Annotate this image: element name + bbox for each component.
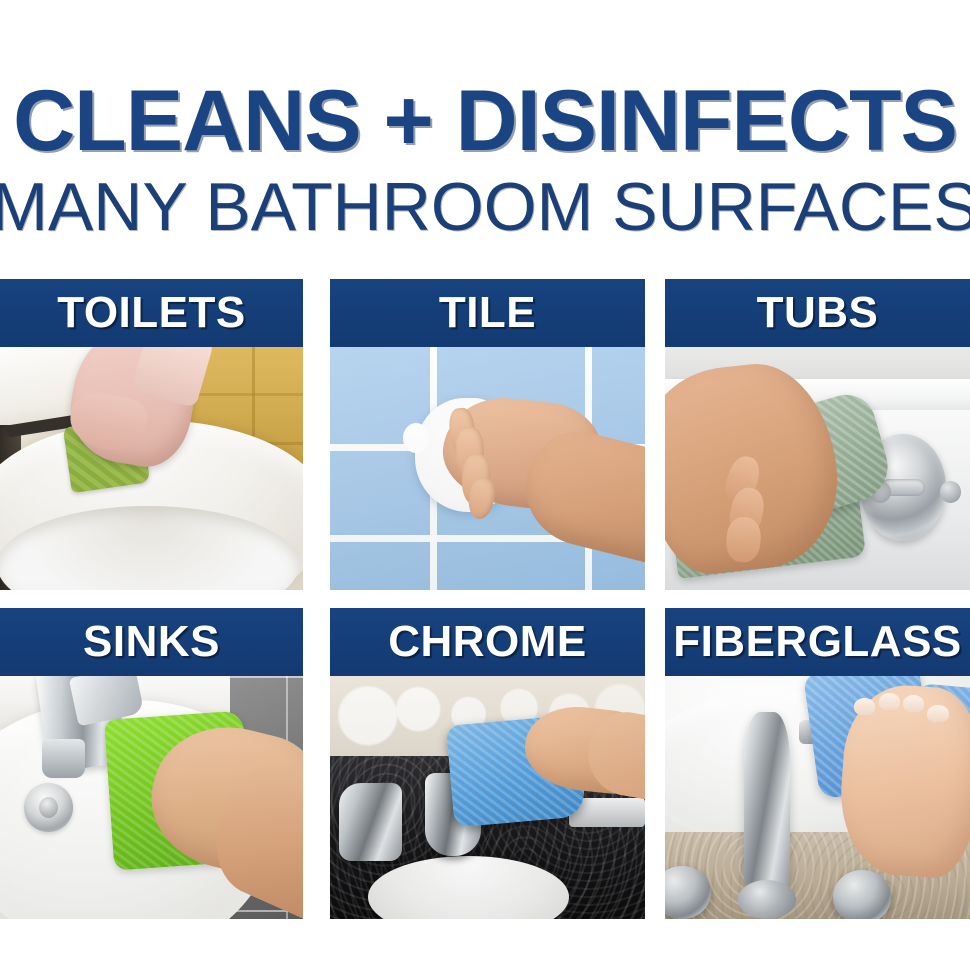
surface-tile-grid: TOILETS TILE: [0, 279, 970, 919]
surface-tile-chrome[interactable]: CHROME: [330, 608, 645, 919]
fingernail: [879, 693, 900, 710]
tile-header-chrome: CHROME: [330, 608, 645, 676]
fingernail: [927, 705, 948, 722]
page-headline: CLEANS + DISINFECTS: [13, 76, 957, 166]
surface-tile-tubs[interactable]: TUBS: [665, 279, 970, 590]
overflow-screw: [940, 481, 961, 503]
surface-tile-tile[interactable]: TILE: [330, 279, 645, 590]
tile-label-chrome: CHROME: [388, 619, 587, 665]
tile-header-tubs: TUBS: [665, 279, 970, 347]
surface-tile-toilets[interactable]: TOILETS: [0, 279, 303, 590]
fingernail: [903, 695, 924, 712]
tile-photo-toilets: [0, 347, 303, 590]
tile-label-fiberglass: FIBERGLASS: [673, 619, 962, 665]
surface-tile-fiberglass[interactable]: FIBERGLASS: [665, 608, 970, 919]
nickel-tub-spout: [744, 712, 790, 897]
headline-block: CLEANS + DISINFECTS MANY BATHROOM SURFAC…: [0, 0, 970, 272]
tile-label-tubs: TUBS: [757, 290, 879, 336]
tile-photo-sinks: [0, 676, 303, 919]
tile-label-toilets: TOILETS: [57, 290, 245, 336]
tile-photo-chrome: [330, 676, 645, 919]
sink-drain: [24, 783, 72, 832]
toilet-bowl-inner: [0, 506, 299, 590]
tile-photo-tile: [330, 347, 645, 590]
fingernail: [854, 698, 875, 715]
faucet-base: [42, 739, 84, 778]
tub-handle: [833, 870, 891, 919]
surface-tile-sinks[interactable]: SINKS: [0, 608, 303, 919]
faucet-handle: [339, 783, 402, 861]
finger: [725, 517, 762, 564]
tile-header-tile: TILE: [330, 279, 645, 347]
tile-label-tile: TILE: [439, 290, 536, 336]
tile-photo-tubs: [665, 347, 970, 590]
tile-label-sinks: SINKS: [83, 619, 220, 665]
page-subheadline: MANY BATHROOM SURFACES: [0, 172, 970, 242]
tile-header-fiberglass: FIBERGLASS: [665, 608, 970, 676]
tile-header-toilets: TOILETS: [0, 279, 303, 347]
tile-photo-fiberglass: [665, 676, 970, 919]
tile-header-sinks: SINKS: [0, 608, 303, 676]
spout-base: [738, 880, 796, 919]
